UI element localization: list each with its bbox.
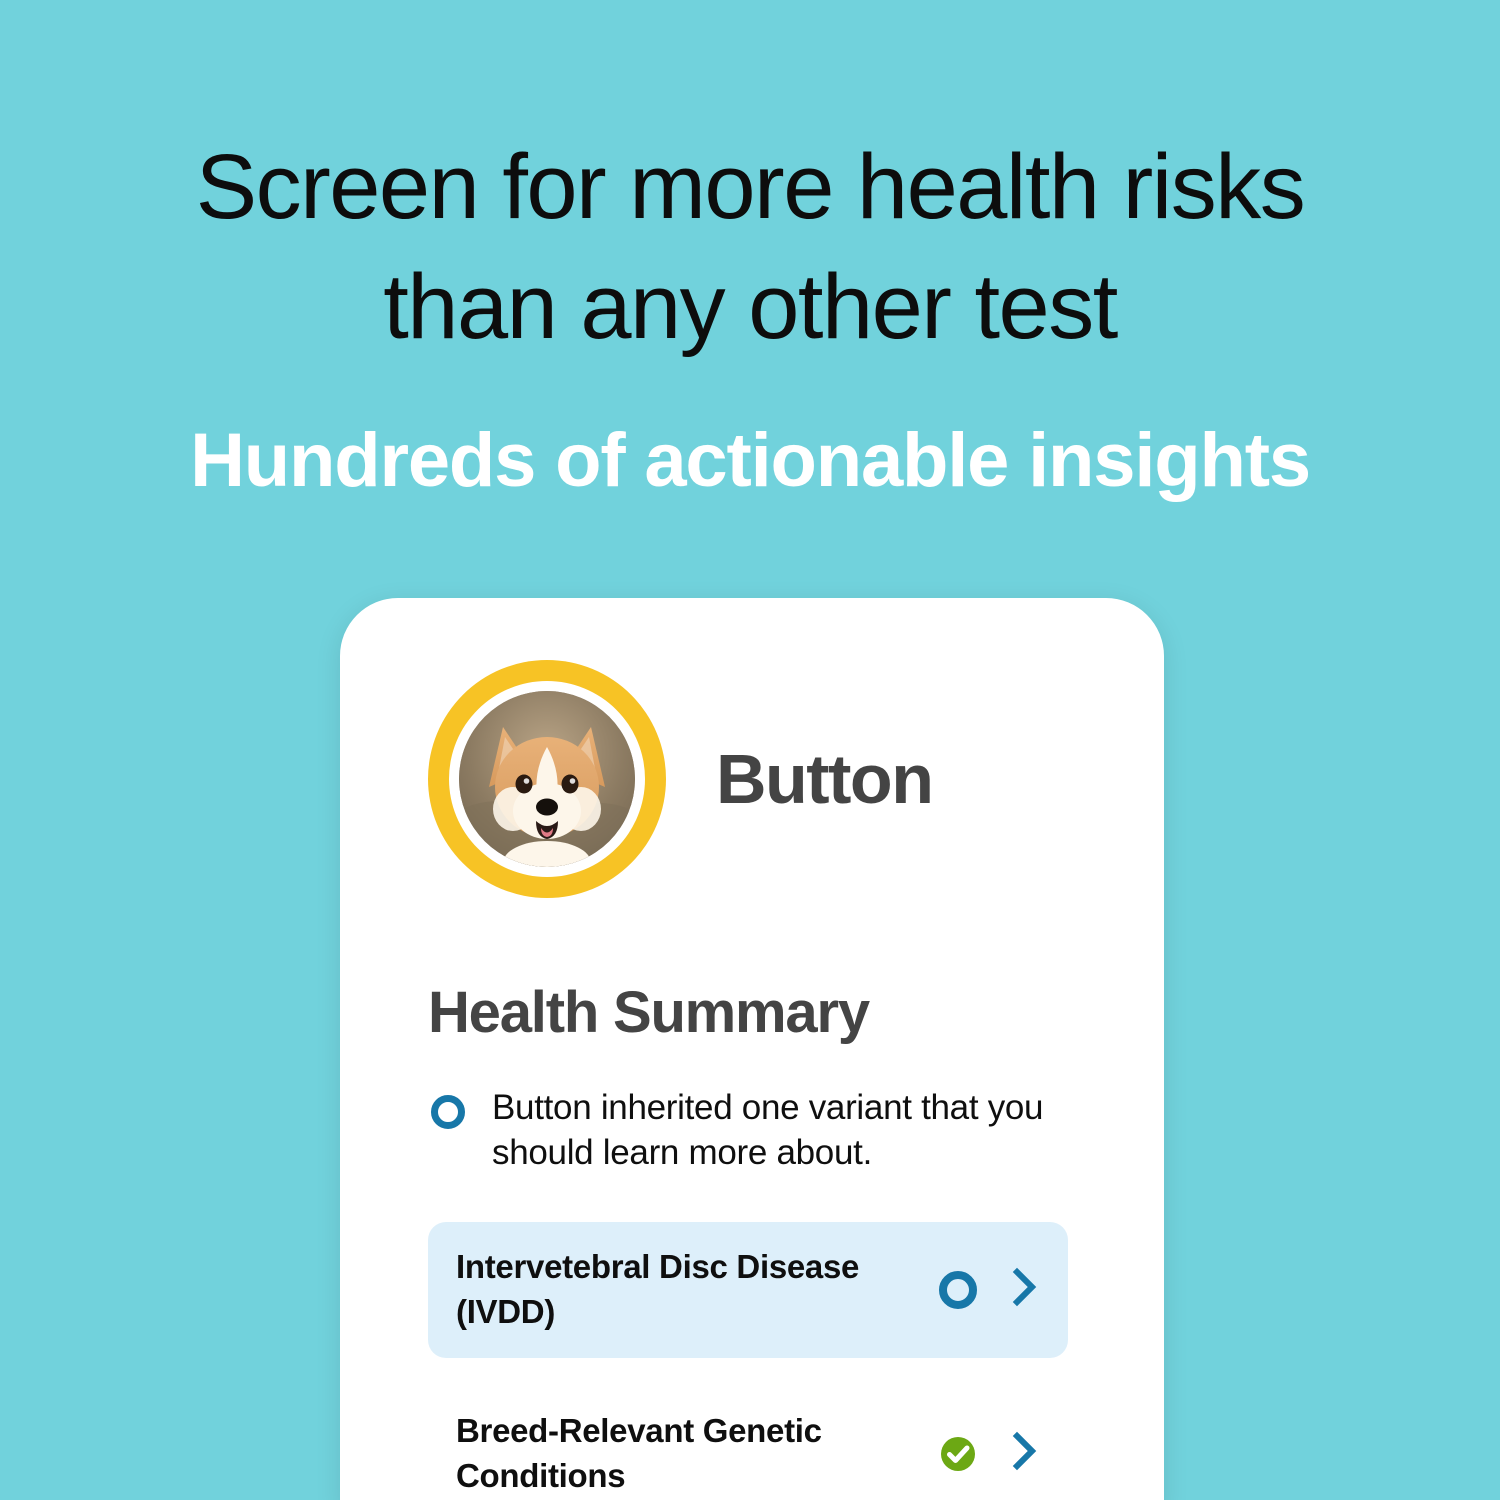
condition-list: Intervetebral Disc Disease (IVDD): [428, 1222, 1102, 1500]
row-actions: [934, 1264, 1040, 1315]
page-subtitle: Hundreds of actionable insights: [0, 419, 1500, 503]
chevron-right-icon[interactable]: [1010, 1264, 1040, 1315]
card-content: Button Health Summary Button inherited o…: [340, 598, 1164, 1500]
health-summary-note-text: Button inherited one variant that you sh…: [492, 1086, 1068, 1176]
chevron-right-icon[interactable]: [1010, 1428, 1040, 1479]
pet-name: Button: [716, 744, 932, 814]
condition-label: Breed-Relevant Genetic Conditions: [456, 1409, 912, 1497]
health-summary-note: Button inherited one variant that you sh…: [428, 1086, 1102, 1176]
headline-line-1: Screen for more health risks: [196, 136, 1304, 238]
list-item[interactable]: Intervetebral Disc Disease (IVDD): [428, 1222, 1068, 1358]
condition-label: Intervetebral Disc Disease (IVDD): [456, 1245, 912, 1333]
hero-section: Screen for more health risks than any ot…: [0, 0, 1500, 503]
phone-app-card: Button Health Summary Button inherited o…: [340, 598, 1164, 1500]
headline-line-2: than any other test: [383, 256, 1117, 358]
pet-header: Button: [428, 660, 1102, 898]
list-item[interactable]: Breed-Relevant Genetic Conditions: [428, 1386, 1068, 1500]
page-title: Screen for more health risks than any ot…: [40, 128, 1460, 367]
row-actions: [934, 1428, 1040, 1479]
ring-icon: [428, 1092, 468, 1137]
health-summary-heading: Health Summary: [428, 984, 1102, 1042]
avatar[interactable]: [459, 691, 635, 867]
check-circle-icon: [934, 1430, 982, 1478]
avatar-inner-gap: [449, 681, 645, 877]
avatar-ring: [428, 660, 666, 898]
ring-icon: [934, 1266, 982, 1314]
